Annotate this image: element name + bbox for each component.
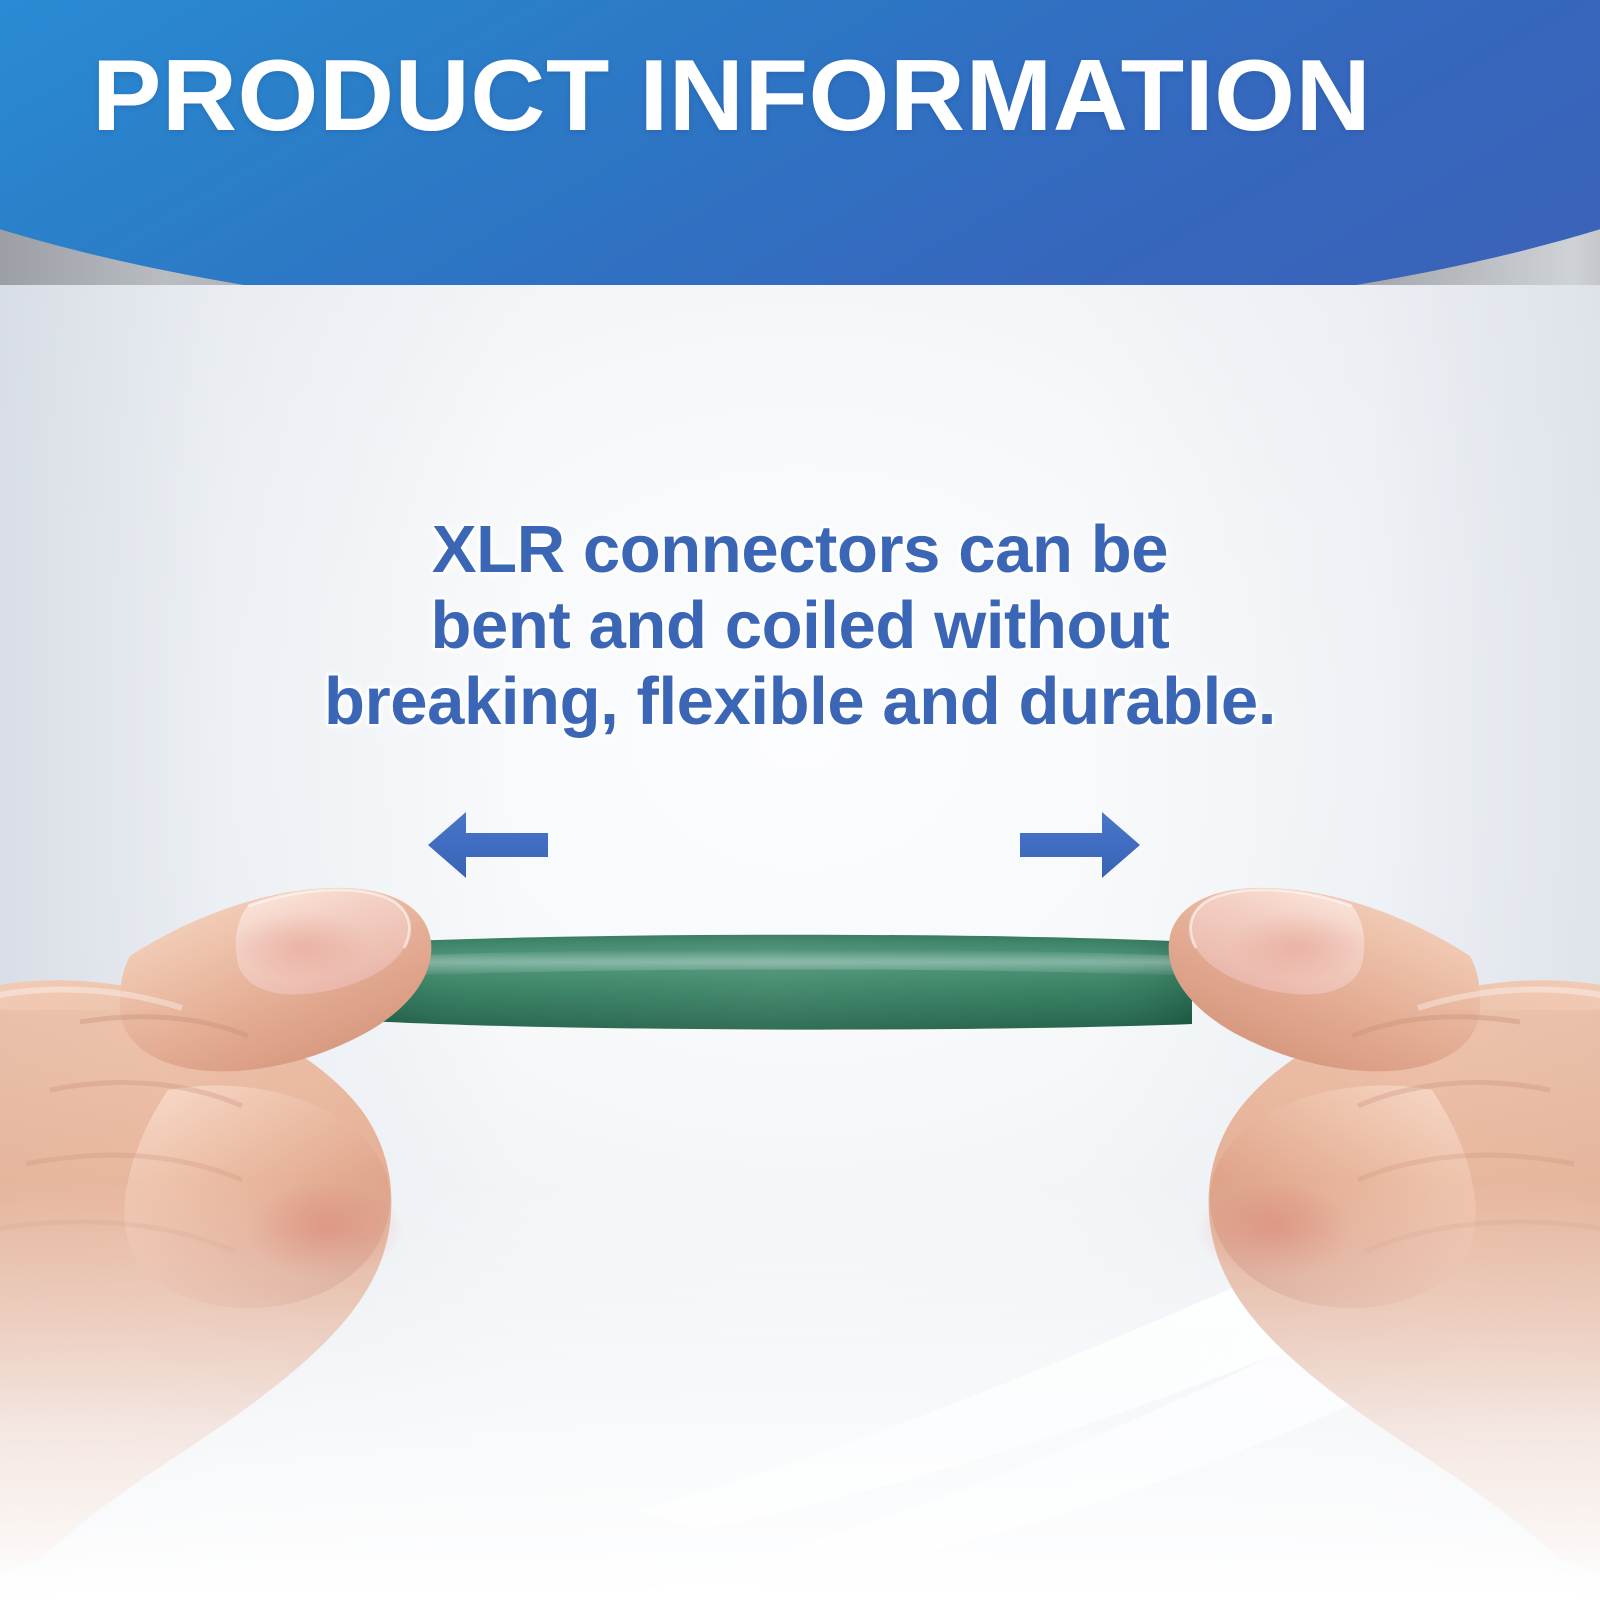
page-title: PRODUCT INFORMATION [92,43,1555,149]
header-banner: PRODUCT INFORMATION [0,0,1600,285]
green-cable [352,928,1192,1034]
header-divider-swoosh [0,150,1600,285]
feature-caption: XLR connectors can be bent and coiled wi… [260,512,1340,740]
product-information-image: PRODUCT INFORMATION [0,0,1600,1600]
arrow-left-icon [426,806,550,884]
arrow-right-icon [1018,806,1142,884]
bottom-fade [0,1180,1600,1600]
